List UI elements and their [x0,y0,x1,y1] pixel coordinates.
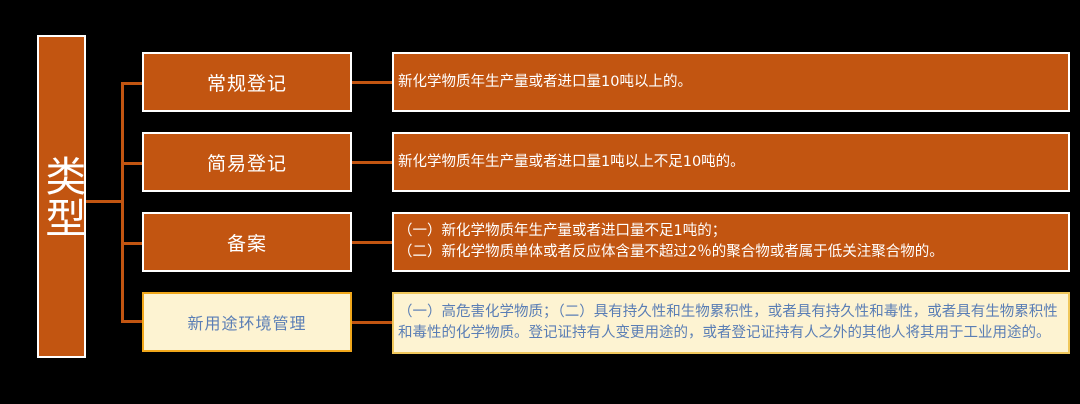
connector-trunk [121,82,124,322]
root-node-type[interactable]: 类型 [37,35,86,358]
description-line-3-2: （二）新化学物质单体或者反应体含量不超过2％的聚合物或者属于低关注聚合物的。 [398,242,1064,263]
connector-arm-1 [121,82,144,85]
connector-link-4 [350,321,394,324]
root-node-label: 类型 [40,155,83,239]
connector-link-2 [350,161,394,164]
category-node-4[interactable]: 新用途环境管理 [142,292,352,352]
description-node-2[interactable]: 新化学物质年生产量或者进口量1吨以上不足10吨的。 [392,132,1070,192]
description-node-3[interactable]: （一）新化学物质年生产量或者进口量不足1吨的； （二）新化学物质单体或者反应体含… [392,212,1070,272]
connector-root-stub [86,200,123,203]
diagram-canvas: 类型 常规登记 简易登记 备案 新用途环境管理 新化学物质年生产量或者进口量10… [0,0,1080,404]
connector-arm-2 [121,162,144,165]
category-label-1: 常规登记 [207,69,287,96]
description-node-4[interactable]: （一）高危害化学物质；（二）具有持久性和生物累积性，或者具有持久性和毒性，或者具… [392,292,1070,354]
description-line-1-1: 新化学物质年生产量或者进口量10吨以上的。 [398,72,1064,93]
category-node-1[interactable]: 常规登记 [142,52,352,112]
category-label-3: 备案 [227,229,267,256]
description-line-2-1: 新化学物质年生产量或者进口量1吨以上不足10吨的。 [398,152,1064,173]
description-line-3-1: （一）新化学物质年生产量或者进口量不足1吨的； [398,221,1064,242]
description-line-4-1: （一）高危害化学物质；（二）具有持久性和生物累积性，或者具有持久性和毒性，或者具… [398,302,1064,343]
connector-arm-4 [121,320,144,323]
connector-arm-3 [121,242,144,245]
connector-link-1 [350,81,394,84]
category-label-2: 简易登记 [207,149,287,176]
category-node-2[interactable]: 简易登记 [142,132,352,192]
category-node-3[interactable]: 备案 [142,212,352,272]
connector-link-3 [350,241,394,244]
category-label-4: 新用途环境管理 [187,310,306,334]
description-node-1[interactable]: 新化学物质年生产量或者进口量10吨以上的。 [392,52,1070,112]
